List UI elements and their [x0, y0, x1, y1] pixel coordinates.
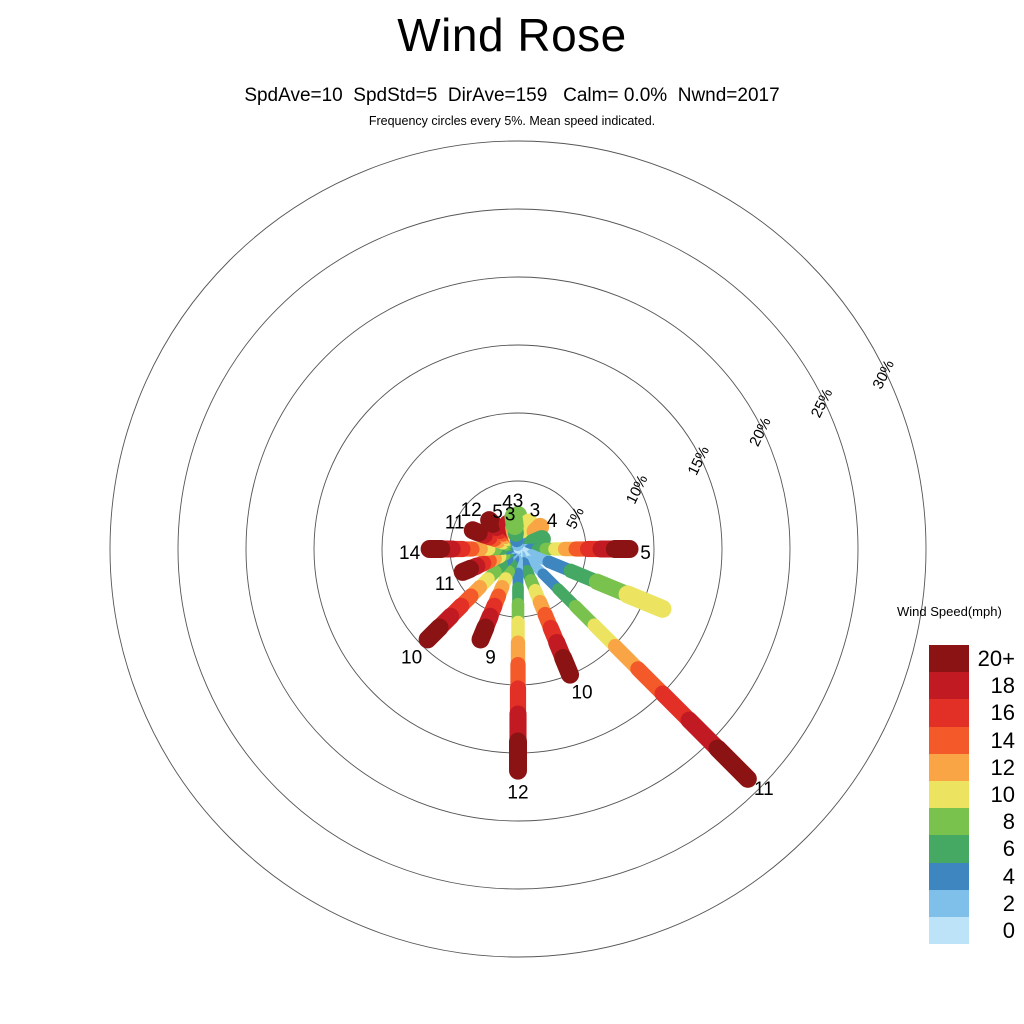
- legend-swatch: [929, 863, 969, 890]
- ring-label: 15%: [685, 444, 713, 478]
- wind-rose-page: Wind Rose SpdAve=10 SpdStd=5 DirAve=159 …: [0, 0, 1024, 1024]
- wind-speed-legend: 20+181614121086420: [929, 645, 1017, 944]
- petal-mean-speed-label: 11: [754, 779, 774, 800]
- wind-rose-plot: 5%10%15%20%25%30% 3345111012910111411125…: [0, 0, 1024, 1024]
- legend-row: 8: [929, 808, 1017, 835]
- wind-petals: [428, 515, 748, 779]
- legend-swatch: [929, 645, 969, 672]
- legend-row: 4: [929, 863, 1017, 890]
- petal-mean-speed-label: 4: [502, 493, 513, 514]
- ring-label: 30%: [870, 357, 898, 391]
- legend-row: 0: [929, 917, 1017, 944]
- legend-swatch: [929, 917, 969, 944]
- legend-row: 6: [929, 835, 1017, 862]
- petal-mean-speed-label: 10: [571, 683, 592, 704]
- petal-segment: [428, 627, 440, 639]
- legend-swatch: [929, 672, 969, 699]
- legend-row: 2: [929, 890, 1017, 917]
- ring-label: 5%: [563, 505, 588, 532]
- legend-label: 16: [969, 699, 1017, 726]
- legend-swatch: [929, 754, 969, 781]
- legend-swatch: [929, 808, 969, 835]
- petal-segment: [718, 749, 748, 779]
- legend-swatch: [929, 835, 969, 862]
- petal-segment: [533, 539, 542, 543]
- petal-segment: [628, 594, 663, 608]
- petal-mean-speed-label: 9: [485, 647, 496, 668]
- petal-mean-speed-label: 3: [530, 501, 541, 522]
- legend-label: 4: [969, 863, 1017, 890]
- legend-row: 10: [929, 781, 1017, 808]
- legend-row: 20+: [929, 645, 1017, 672]
- legend-title: Wind Speed(mph): [897, 604, 1002, 619]
- legend-row: 16: [929, 699, 1017, 726]
- legend-label: 18: [969, 672, 1017, 699]
- petal-mean-speed-label: 12: [507, 783, 528, 804]
- legend-label: 20+: [969, 645, 1017, 672]
- legend-swatch: [929, 699, 969, 726]
- legend-label: 14: [969, 727, 1017, 754]
- legend-label: 2: [969, 890, 1017, 917]
- petal-segment: [463, 569, 470, 572]
- petal-mean-speed-label: 14: [399, 543, 421, 564]
- petal-mean-speed-label: 11: [435, 574, 455, 595]
- legend-row: 18: [929, 672, 1017, 699]
- legend-label: 8: [969, 808, 1017, 835]
- wind-petal: [518, 549, 748, 779]
- legend-swatch: [929, 727, 969, 754]
- petal-segment: [473, 530, 479, 532]
- legend-row: 14: [929, 727, 1017, 754]
- legend-swatch: [929, 781, 969, 808]
- ring-label: 20%: [746, 415, 774, 449]
- petal-mean-speed-label: 4: [547, 511, 558, 532]
- legend-label: 12: [969, 754, 1017, 781]
- petal-mean-speed-label: 12: [461, 500, 482, 521]
- petal-mean-speed-label: 10: [401, 647, 422, 668]
- petal-mean-speed-label: 5: [640, 543, 651, 564]
- legend-row: 12: [929, 754, 1017, 781]
- ring-labels: 5%10%15%20%25%30%: [563, 357, 898, 531]
- legend-swatch: [929, 890, 969, 917]
- petal-segment: [563, 658, 570, 675]
- legend-label: 0: [969, 917, 1017, 944]
- legend-label: 10: [969, 781, 1017, 808]
- ring-label: 25%: [808, 386, 836, 420]
- petal-segment: [481, 628, 486, 640]
- legend-label: 6: [969, 835, 1017, 862]
- ring-label: 10%: [623, 472, 651, 506]
